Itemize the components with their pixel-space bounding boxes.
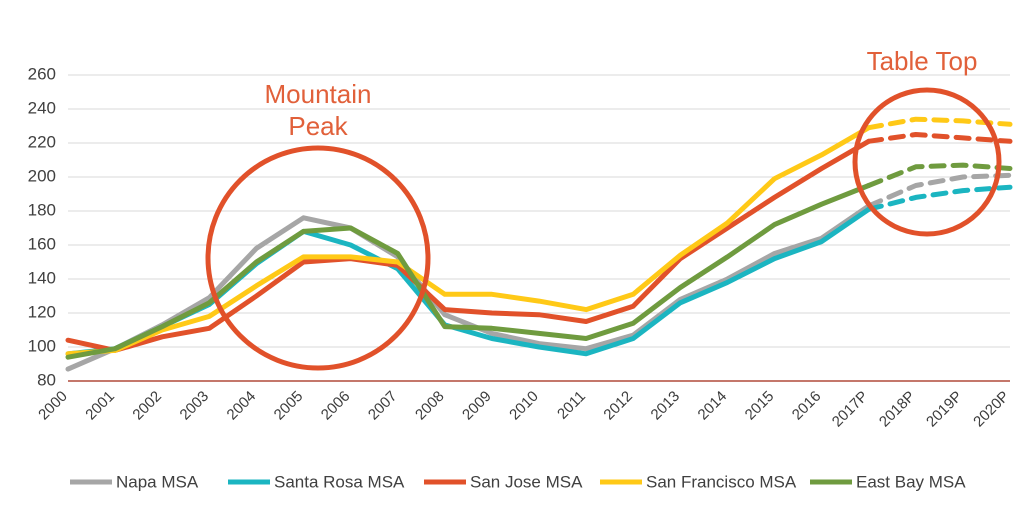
x-axis-tick-label: 2013 — [648, 388, 684, 424]
annotation-circle-table-top — [855, 90, 999, 234]
y-axis-tick-label: 220 — [28, 132, 56, 151]
annotation-label-mountain-peak-line2: Peak — [288, 111, 348, 141]
x-axis-tick-label: 2005 — [271, 388, 307, 424]
annotation-label-table-top: Table Top — [867, 46, 978, 76]
y-axis-tick-label: 140 — [28, 268, 56, 287]
series-line-solid — [68, 206, 869, 369]
x-axis-tick-label: 2001 — [82, 388, 118, 424]
x-axis-tick-label: 2018P — [876, 388, 919, 431]
x-axis-tick-label: 2017P — [829, 388, 872, 431]
legend-label[interactable]: East Bay MSA — [856, 472, 966, 491]
x-axis-tick-label: 2003 — [177, 388, 213, 424]
x-axis-tick-label: 2002 — [129, 388, 165, 424]
chart-container: 80100120140160180200220240260 2000200120… — [0, 0, 1024, 517]
chart-legend: Napa MSASanta Rosa MSASan Jose MSASan Fr… — [70, 472, 966, 491]
x-axis-tick-label: 2014 — [695, 388, 731, 424]
x-axis-tick-label: 2020P — [970, 388, 1013, 431]
x-axis-tick-labels: 2000200120022003200420052006200720082009… — [35, 388, 1013, 431]
x-axis-tick-label: 2004 — [224, 388, 260, 424]
y-axis-tick-label: 240 — [28, 98, 56, 117]
y-axis-tick-label: 100 — [28, 336, 56, 355]
series-line-forecast-dashed — [869, 135, 1010, 142]
y-axis-tick-label: 80 — [37, 370, 56, 389]
price-index-line-chart: 80100120140160180200220240260 2000200120… — [0, 0, 1024, 517]
legend-label[interactable]: San Francisco MSA — [646, 472, 797, 491]
x-axis-tick-label: 2009 — [459, 388, 495, 424]
x-axis-tick-label: 2006 — [318, 388, 354, 424]
series-line-solid — [68, 141, 869, 350]
y-axis-tick-label: 120 — [28, 302, 56, 321]
y-axis-tick-label: 160 — [28, 234, 56, 253]
x-axis-tick-label: 2015 — [742, 388, 778, 424]
y-axis-tick-labels: 80100120140160180200220240260 — [28, 64, 56, 389]
y-axis-tick-label: 200 — [28, 166, 56, 185]
x-axis-tick-label: 2011 — [554, 388, 589, 423]
x-axis-tick-label: 2008 — [412, 388, 448, 424]
x-axis-tick-label: 2012 — [600, 388, 636, 424]
annotation-label-mountain-peak: Mountain — [265, 79, 372, 109]
y-axis-tick-label: 180 — [28, 200, 56, 219]
legend-label[interactable]: San Jose MSA — [470, 472, 583, 491]
x-axis-tick-label: 2016 — [789, 388, 825, 424]
x-axis-tick-label: 2010 — [506, 388, 542, 424]
legend-label[interactable]: Santa Rosa MSA — [274, 472, 405, 491]
legend-label[interactable]: Napa MSA — [116, 472, 199, 491]
x-axis-tick-label: 2019P — [923, 388, 966, 431]
x-axis-tick-label: 2000 — [35, 388, 71, 424]
x-axis-tick-label: 2007 — [365, 388, 401, 424]
y-axis-tick-label: 260 — [28, 64, 56, 83]
